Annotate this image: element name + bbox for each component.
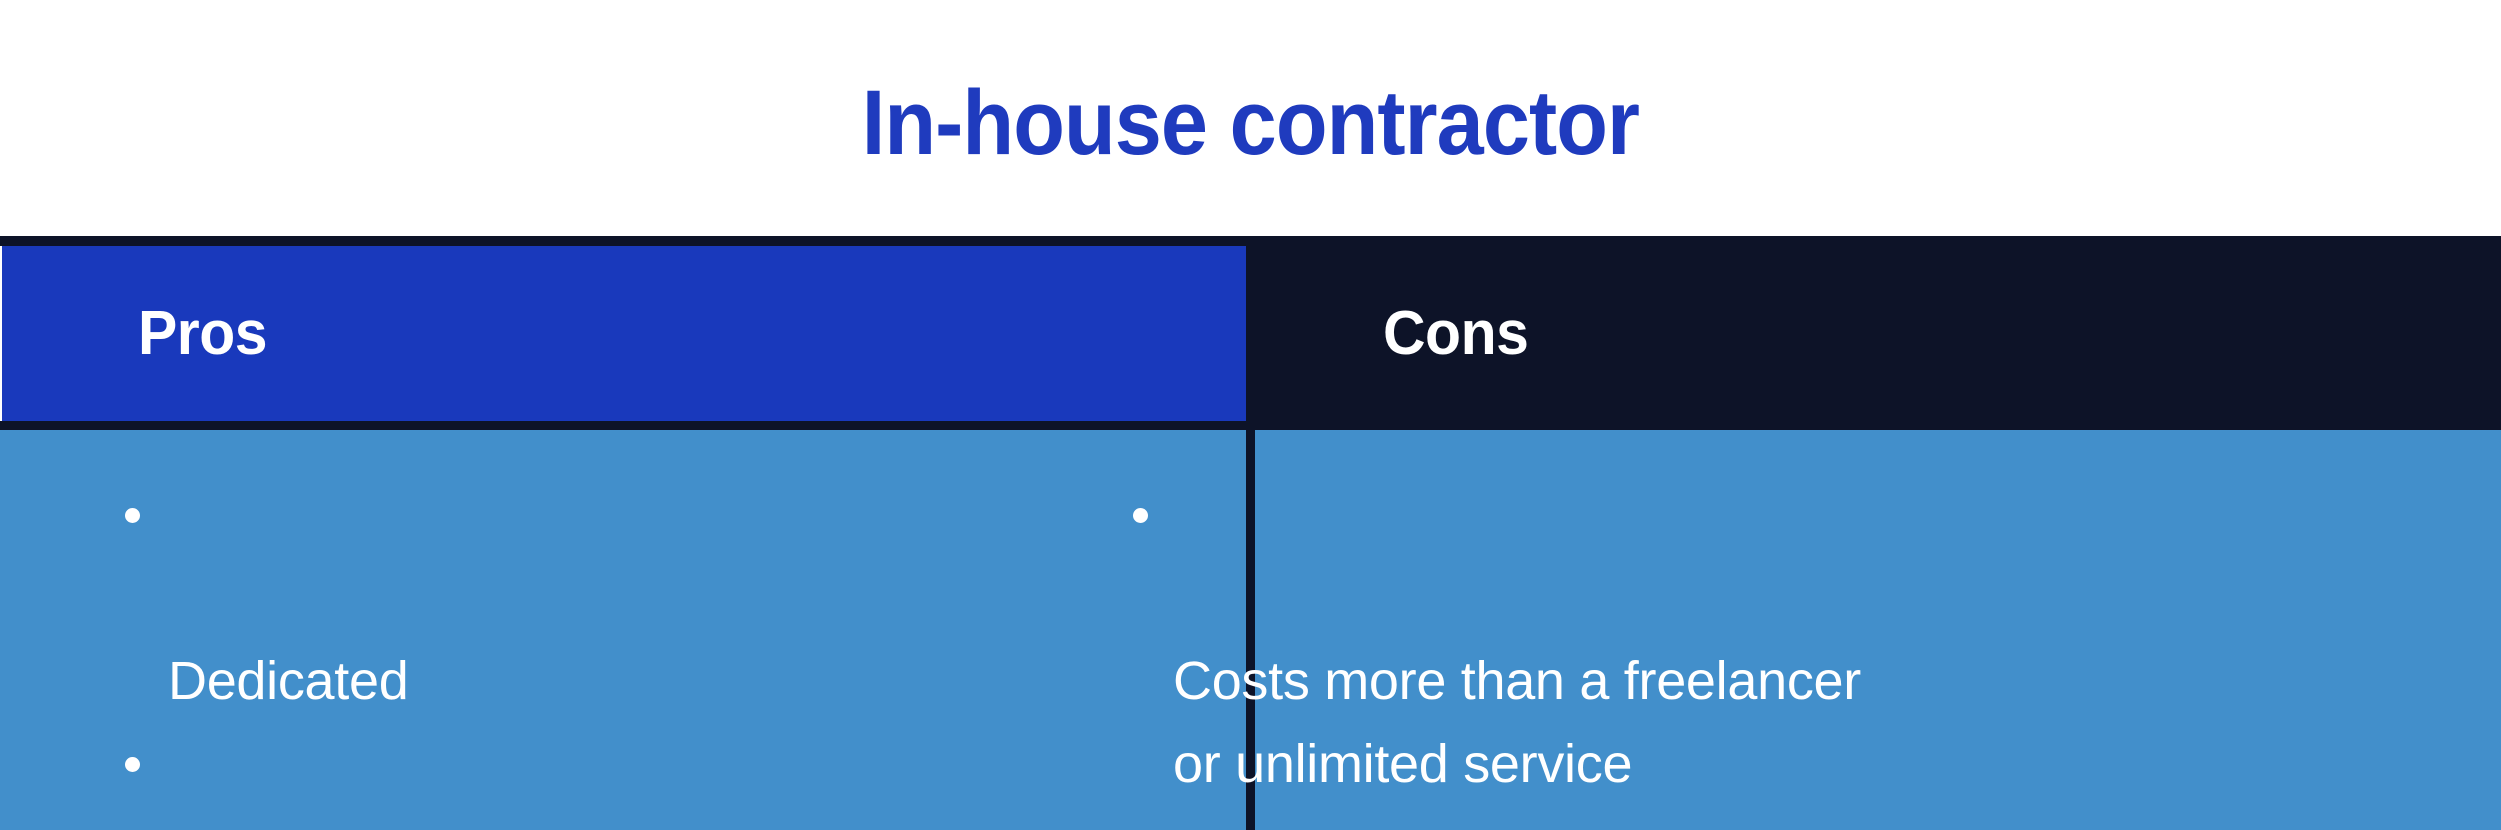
pros-cons-table: Pros Cons Dedicated Accountable for thei…: [0, 236, 2501, 830]
cons-list: Costs more than a freelancer or unlimite…: [1133, 474, 1861, 806]
cons-header-label: Cons: [1383, 303, 1528, 365]
bullet-dot-icon: [125, 508, 140, 523]
table-body-row: Dedicated Accountable for their time Kno…: [0, 430, 2501, 830]
pros-header-label: Pros: [138, 303, 267, 365]
list-item: Dedicated: [125, 474, 773, 723]
list-item: Costs more than a freelancer or unlimite…: [1133, 474, 1861, 806]
title-area: In-house contractor: [0, 0, 2501, 236]
list-item-text: Dedicated: [168, 651, 408, 711]
page-title: In-house contractor: [862, 77, 1639, 169]
table-top-rule: [0, 236, 2501, 246]
table-header-divider-rule: [0, 421, 2501, 430]
bullet-dot-icon: [1133, 508, 1148, 523]
list-item-text: Costs more than a freelancer or unlimite…: [1173, 651, 1861, 794]
pros-header-cell: Pros: [2, 246, 1246, 421]
table-header-row: Pros Cons: [0, 246, 2501, 421]
pros-cons-infographic: In-house contractor Pros Cons Dedicated: [0, 0, 2501, 830]
bullet-dot-icon: [125, 757, 140, 772]
header-left-edge-sliver: [0, 246, 2, 421]
list-item: Accountable for their time: [125, 723, 773, 830]
cons-header-cell: Cons: [1246, 246, 2501, 421]
pros-list: Dedicated Accountable for their time Kno…: [125, 474, 773, 830]
